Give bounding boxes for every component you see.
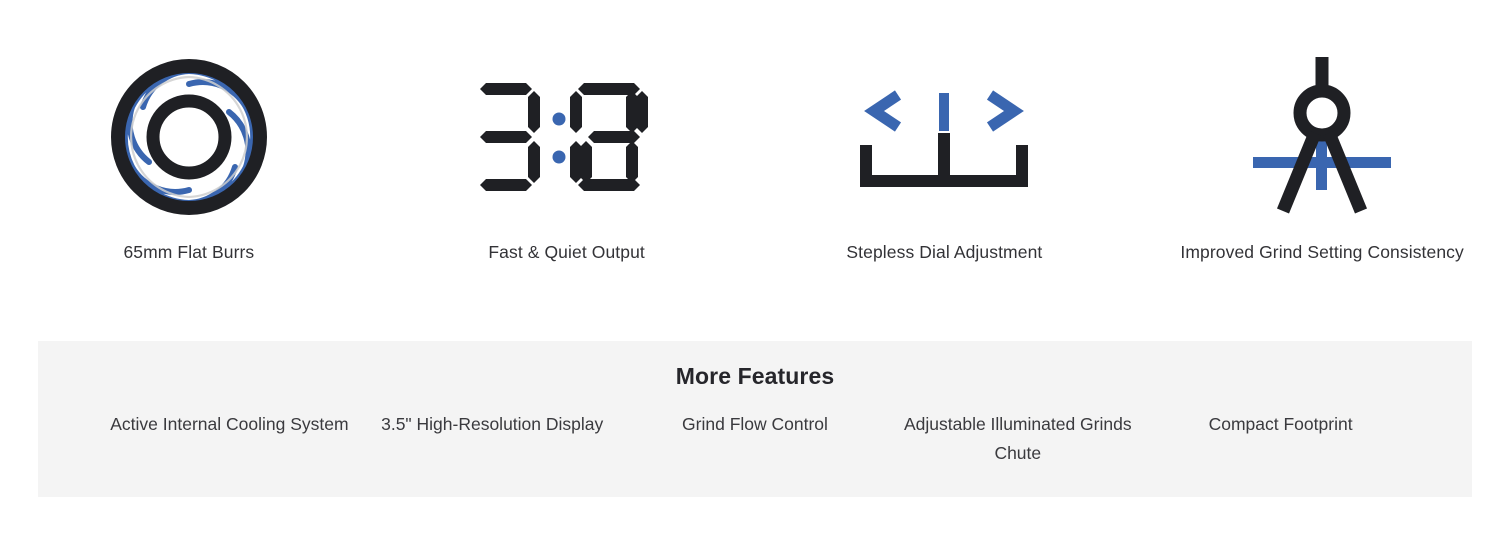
list-item: Grind Flow Control [624, 410, 887, 468]
colon-dots [552, 113, 565, 164]
list-item: Active Internal Cooling System [98, 410, 361, 468]
more-features-list: Active Internal Cooling System 3.5" High… [38, 410, 1472, 468]
feature-label: Improved Grind Setting Consistency [1180, 240, 1464, 264]
chevron-left-icon [874, 95, 898, 127]
center-indicator-icon [939, 93, 949, 131]
feature-item-grind-consistency: Improved Grind Setting Consistency [1133, 0, 1511, 320]
feature-label: 65mm Flat Burrs [123, 240, 254, 264]
feature-label: Fast & Quiet Output [488, 240, 645, 264]
chevron-right-icon [990, 95, 1014, 127]
list-item: Compact Footprint [1149, 410, 1412, 468]
feature-item-stepless-dial: Stepless Dial Adjustment [756, 0, 1134, 320]
more-features-panel: More Features Active Internal Cooling Sy… [38, 341, 1472, 497]
crosshair-icon [1253, 135, 1391, 190]
stepless-dial-icon [854, 52, 1034, 222]
feature-item-flat-burrs: 65mm Flat Burrs [0, 0, 378, 320]
flat-burr-ring-icon [99, 52, 279, 222]
feature-highlights-page: 65mm Flat Burrs [0, 0, 1511, 533]
feature-row: 65mm Flat Burrs [0, 0, 1511, 320]
seven-segment-clock-icon [477, 52, 657, 222]
compass-divider-icon [1232, 52, 1412, 222]
feature-item-fast-quiet-output: Fast & Quiet Output [378, 0, 756, 320]
list-item: 3.5" High-Resolution Display [361, 410, 624, 468]
feature-label: Stepless Dial Adjustment [846, 240, 1042, 264]
dial-scale-icon [860, 133, 1028, 187]
list-item: Adjustable Illuminated Grinds Chute [886, 410, 1149, 468]
more-features-title: More Features [38, 363, 1472, 390]
